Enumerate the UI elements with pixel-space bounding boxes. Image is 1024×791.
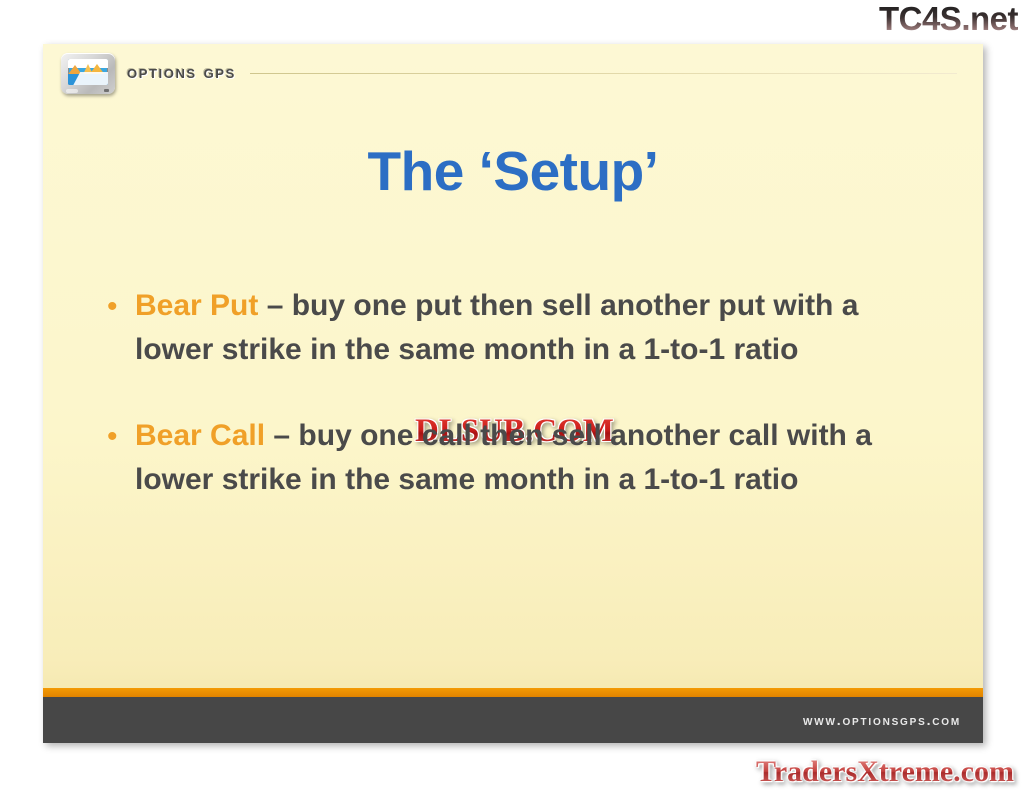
monitor-screen xyxy=(68,59,108,85)
page-title: The ‘Setup’ xyxy=(43,144,983,199)
watermark-bottom-right: TradersXtreme.com xyxy=(756,757,1014,787)
monitor-base xyxy=(66,89,78,93)
bullet-body: Bear Put – buy one put then sell another… xyxy=(135,284,925,372)
list-item: • Bear Call – buy one call then sell ano… xyxy=(101,414,957,502)
bullet-term: Bear Call xyxy=(135,419,265,452)
watermark-top-right: TC4S.net xyxy=(879,2,1018,35)
bullet-body: Bear Call – buy one call then sell anoth… xyxy=(135,414,925,502)
footer-accent-bar xyxy=(43,688,983,697)
list-item: • Bear Put – buy one put then sell anoth… xyxy=(101,284,957,372)
monitor-led xyxy=(104,89,109,92)
bullet-list: • Bear Put – buy one put then sell anoth… xyxy=(101,284,957,544)
presentation-slide: Options GPS The ‘Setup’ • Bear Put – buy… xyxy=(43,44,983,743)
gps-monitor-icon xyxy=(61,53,115,94)
bullet-marker-icon: • xyxy=(101,414,135,460)
bullet-marker-icon: • xyxy=(101,284,135,330)
bullet-term: Bear Put xyxy=(135,289,258,322)
header-divider xyxy=(250,73,957,74)
slide-footer: www.OptionsGPS.com xyxy=(43,697,983,743)
slide-header: Options GPS xyxy=(43,44,983,102)
footer-website-url: www.OptionsGPS.com xyxy=(803,712,961,728)
brand-name: Options GPS xyxy=(127,62,236,84)
